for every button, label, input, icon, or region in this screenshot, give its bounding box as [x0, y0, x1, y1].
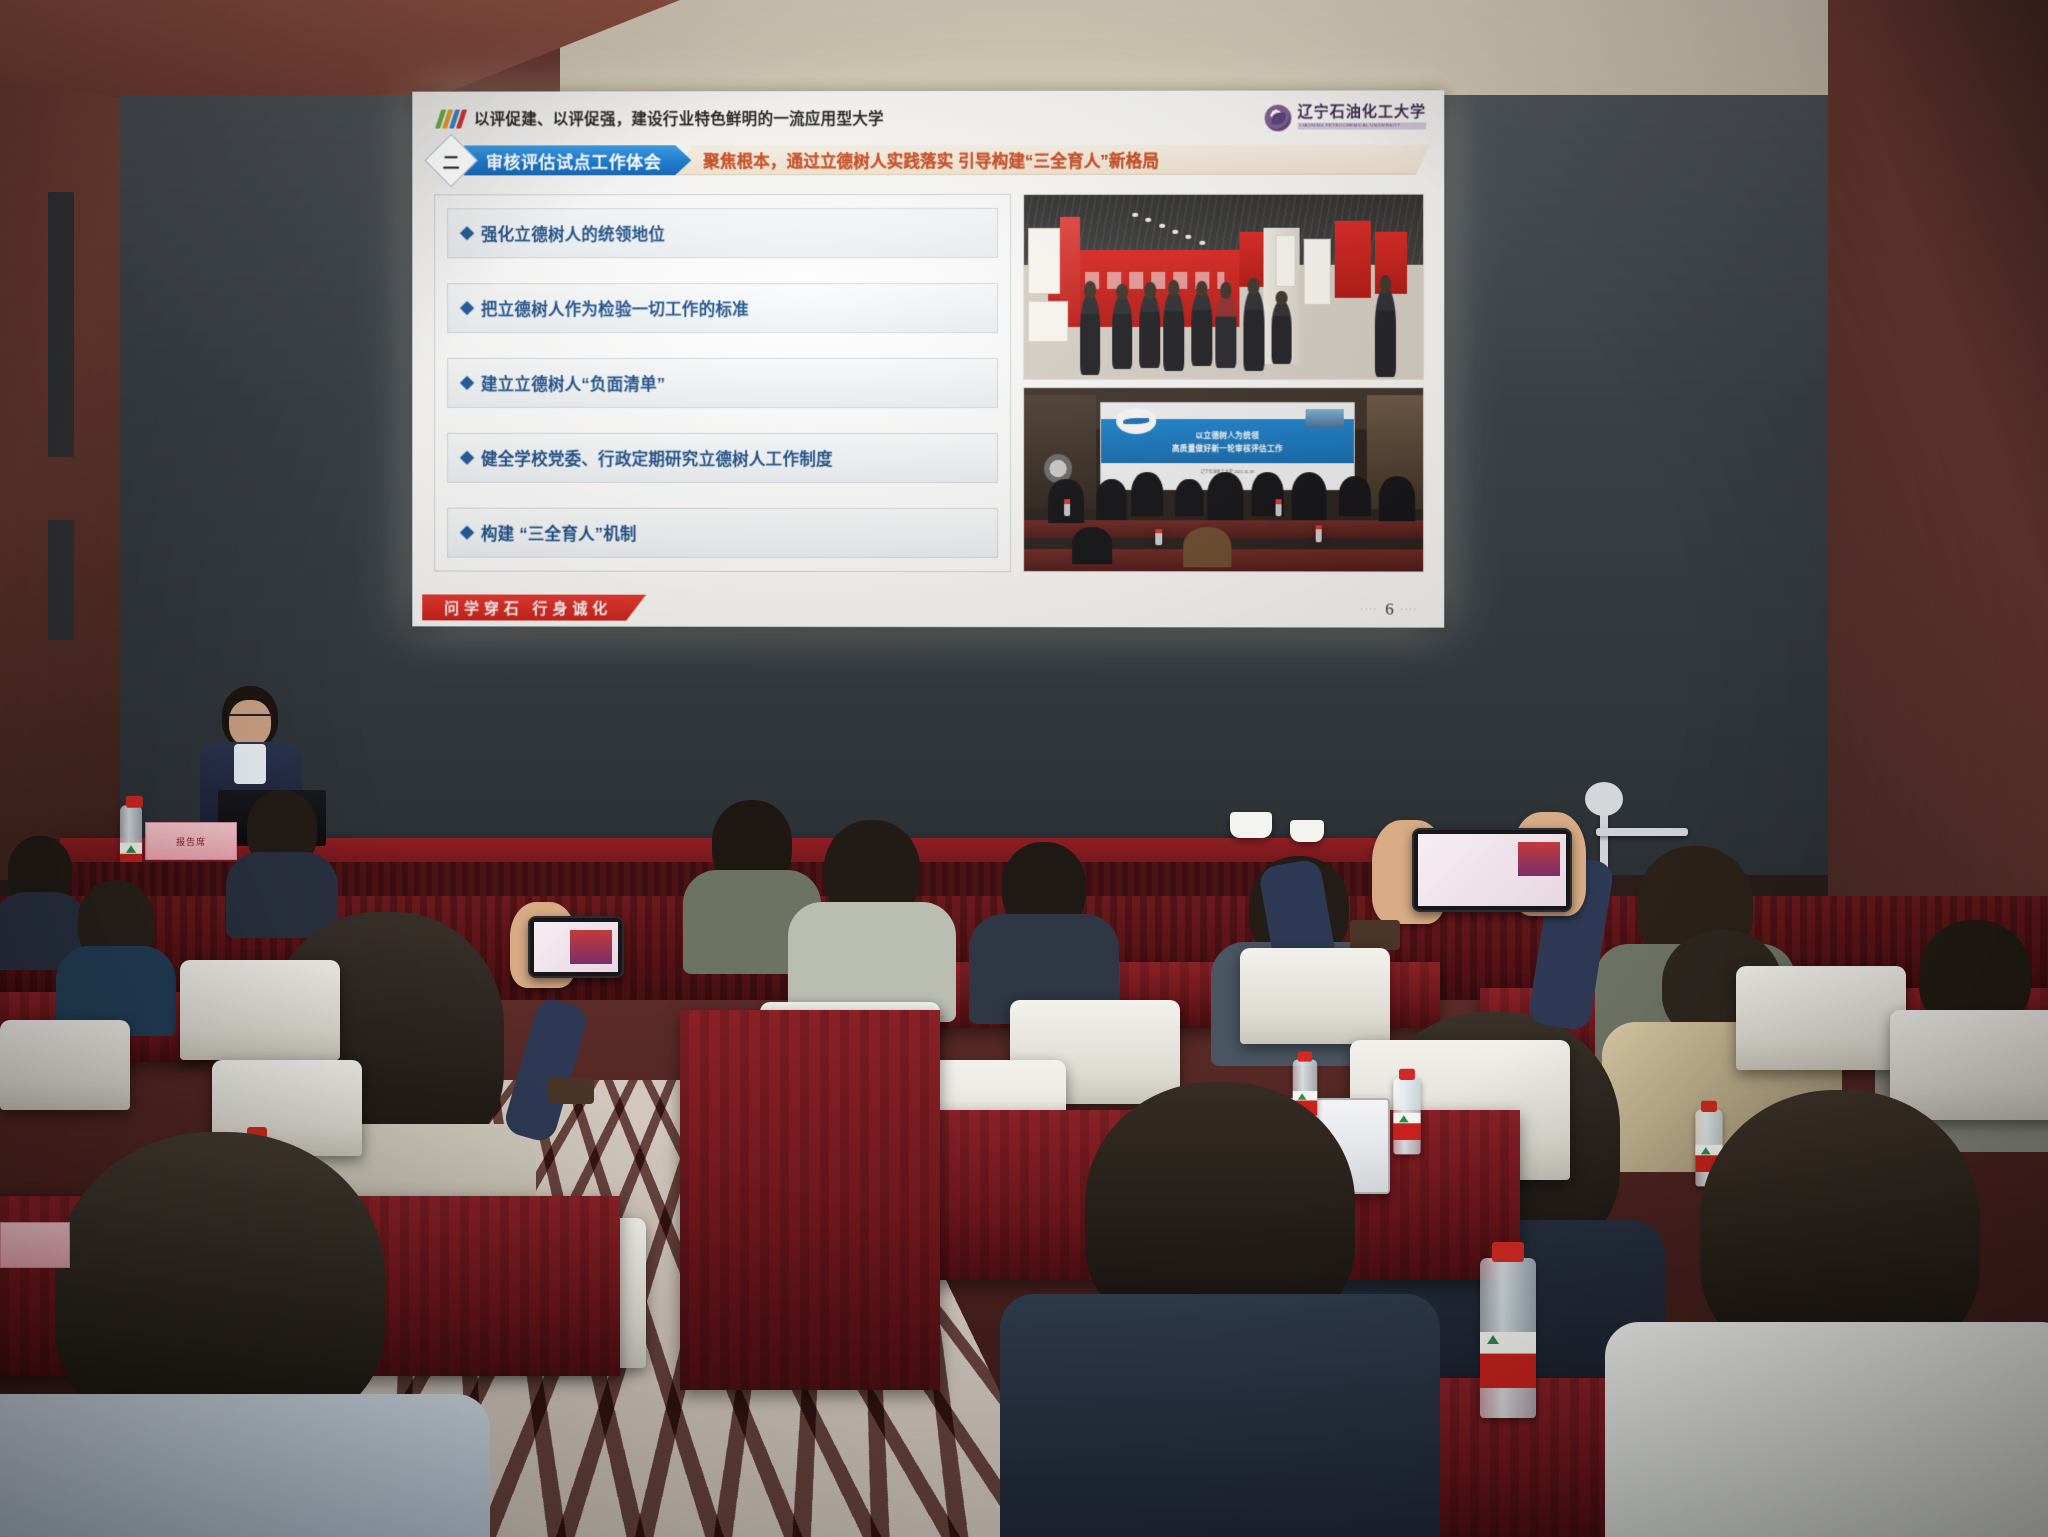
university-seal-icon	[1264, 104, 1291, 131]
diamond-bullet-icon	[460, 226, 474, 240]
university-logo: 辽宁石油化工大学 LIAONING PETROCHEMICAL UNIVERSI…	[1264, 104, 1430, 131]
presenter-nameplate-label: 报告席	[176, 835, 206, 848]
wristwatch	[548, 1078, 594, 1104]
list-item-label: 健全学校党委、行政定期研究立德树人工作制度	[481, 446, 833, 470]
color-bars-icon	[435, 109, 467, 128]
water-bottle	[120, 805, 142, 865]
audience-table-side	[680, 1010, 940, 1390]
audience-member-foreground	[0, 1132, 480, 1537]
inner-slide-line2: 高质量做好新一轮审核评估工作	[1172, 443, 1283, 454]
photo-meeting-room: 以立德树人为统领 高质量做好新一轮审核评估工作 辽宁石油化工大学 2021.11…	[1023, 387, 1424, 573]
slide-header: 以评促建、以评促强，建设行业特色鲜明的一流应用型大学 辽宁石油化工大学 LIAO…	[426, 100, 1430, 135]
slide-body: 强化立德树人的统领地位 把立德树人作为检验一切工作的标准 建立立德树人“负面清单…	[426, 194, 1430, 573]
page-dots-left: ····	[1361, 606, 1378, 613]
table-name-card	[0, 1222, 70, 1268]
photo-exhibition-hall	[1023, 194, 1424, 380]
page-number: 6	[1385, 600, 1394, 620]
chair	[180, 960, 340, 1060]
audience-member	[68, 880, 164, 1010]
diamond-bullet-icon	[460, 526, 474, 540]
university-name-en: LIAONING PETROCHEMICAL UNIVERSITY	[1298, 123, 1427, 130]
water-bottle	[1480, 1258, 1536, 1418]
list-item-label: 把立德树人作为检验一切工作的标准	[481, 296, 749, 320]
audience-member	[812, 820, 932, 990]
audience-member-foreground	[1620, 1090, 2048, 1530]
conference-hall-scene: 以评促建、以评促强，建设行业特色鲜明的一流应用型大学 辽宁石油化工大学 LIAO…	[0, 0, 2048, 1537]
smartphone	[1412, 828, 1572, 912]
wristwatch	[1350, 920, 1400, 950]
university-name-cn: 辽宁石油化工大学	[1298, 106, 1427, 121]
list-item: 强化立德树人的统领地位	[447, 208, 998, 258]
list-item-label: 建立立德树人“负面清单”	[481, 371, 665, 395]
slide-page-number: ···· 6 ····	[1361, 599, 1418, 619]
slide-subtitle-wrap: 聚焦根本，通过立德树人实践落实 引导构建“三全育人”新格局	[677, 144, 1430, 175]
list-item-label: 强化立德树人的统领地位	[481, 221, 665, 245]
chair	[0, 1020, 130, 1110]
list-item-label: 构建 “三全育人”机制	[481, 521, 637, 545]
teacup	[1290, 820, 1324, 842]
section-number-badge: 二	[424, 134, 477, 188]
chair	[1736, 966, 1906, 1070]
diamond-bullet-icon	[460, 376, 474, 390]
projection-screen: 以评促建、以评促强，建设行业特色鲜明的一流应用型大学 辽宁石油化工大学 LIAO…	[412, 90, 1444, 627]
microphone-head-icon	[1585, 782, 1623, 816]
chair	[1240, 948, 1390, 1044]
wall-panel-slot	[48, 192, 74, 457]
presentation-slide: 以评促建、以评促强，建设行业特色鲜明的一流应用型大学 辽宁石油化工大学 LIAO…	[412, 90, 1444, 627]
section-label: 审核评估试点工作体会	[464, 145, 691, 175]
audience-member	[236, 790, 328, 910]
page-dots-right: ····	[1401, 606, 1418, 613]
school-motto-banner: 问学穿石 行身诚化	[422, 594, 646, 620]
slide-subtitle: 聚焦根本，通过立德树人实践落实 引导构建“三全育人”新格局	[703, 147, 1159, 171]
list-item: 把立德树人作为检验一切工作的标准	[447, 283, 998, 333]
section-number: 二	[443, 148, 460, 173]
slide-photos: 以立德树人为统领 高质量做好新一轮审核评估工作 辽宁石油化工大学 2021.11…	[1023, 194, 1424, 573]
diamond-bullet-icon	[460, 301, 474, 315]
smartphone	[528, 916, 624, 978]
presenter-nameplate: 报告席	[145, 822, 237, 860]
bullet-list: 强化立德树人的统领地位 把立德树人作为检验一切工作的标准 建立立德树人“负面清单…	[434, 194, 1011, 572]
inner-slide-line1: 以立德树人为统领	[1196, 430, 1259, 441]
slide-title-bar: 二 审核评估试点工作体会 聚焦根本，通过立德树人实践落实 引导构建“三全育人”新…	[426, 139, 1430, 180]
audience-member	[990, 842, 1098, 992]
slide-tagline: 以评促建、以评促强，建设行业特色鲜明的一流应用型大学	[474, 107, 884, 129]
list-item: 构建 “三全育人”机制	[447, 508, 998, 558]
list-item: 建立立德树人“负面清单”	[447, 358, 998, 408]
slide-footer: 问学穿石 行身诚化 ···· 6 ····	[412, 586, 1444, 627]
teacup	[1230, 812, 1272, 838]
microphone-arm	[1596, 828, 1688, 836]
school-motto: 问学穿石 行身诚化	[444, 597, 612, 618]
right-wall	[1828, 0, 2048, 900]
audience-member-foreground	[1010, 1082, 1430, 1502]
wall-panel-slot-lower	[48, 520, 74, 640]
list-item: 健全学校党委、行政定期研究立德树人工作制度	[447, 433, 998, 483]
diamond-bullet-icon	[460, 451, 474, 465]
